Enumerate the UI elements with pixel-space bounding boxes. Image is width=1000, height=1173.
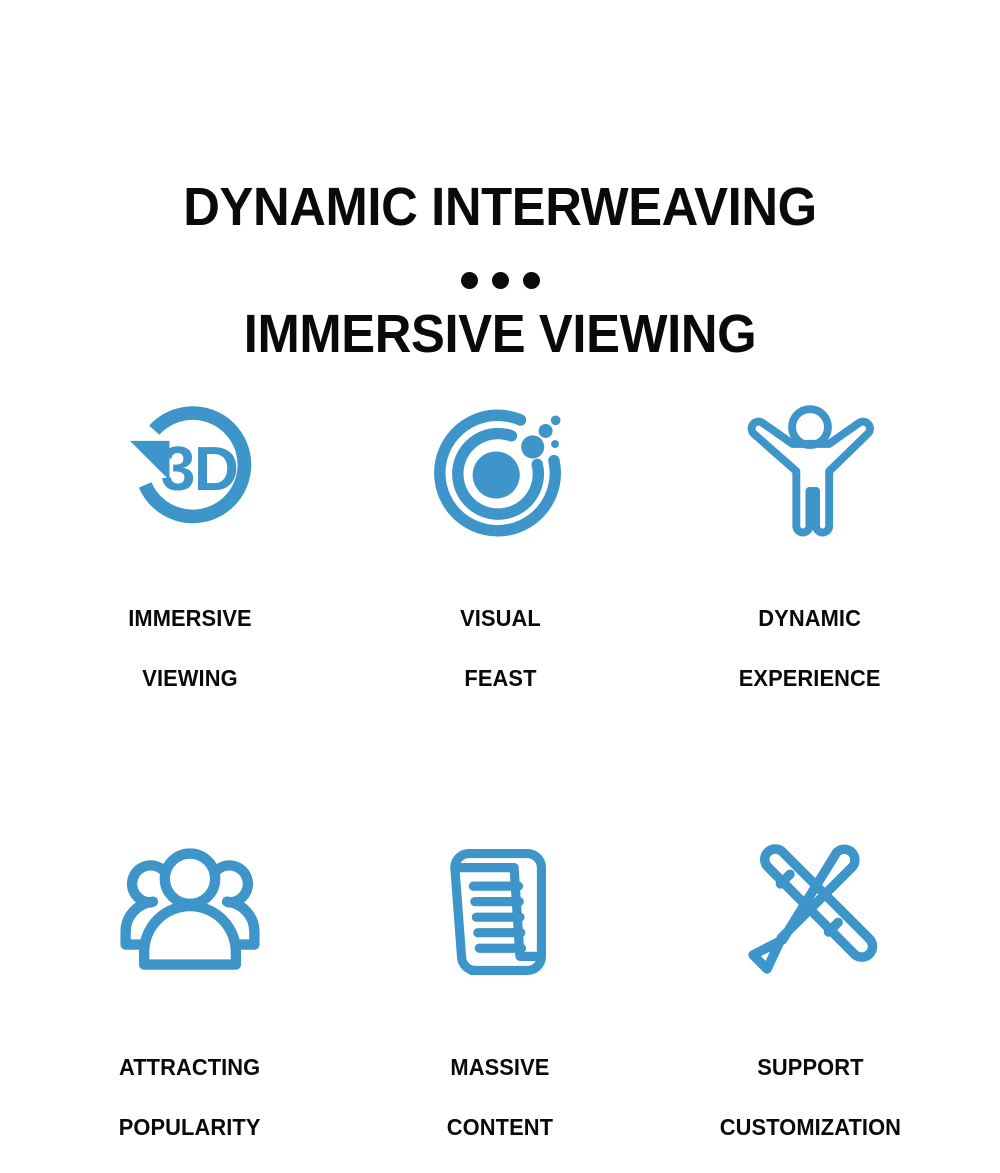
feature-label-line-2: POPULARITY bbox=[119, 1113, 261, 1143]
person-arms-raised-icon bbox=[730, 392, 890, 552]
divider-dot bbox=[461, 272, 478, 289]
feature-label: SUPPORT CUSTOMIZATION bbox=[719, 1023, 900, 1172]
feature-label-line-2: CONTENT bbox=[447, 1113, 553, 1143]
divider-dot bbox=[523, 272, 540, 289]
feature-label-line-2: CUSTOMIZATION bbox=[719, 1113, 900, 1143]
3d-rotate-icon: 3D bbox=[110, 392, 270, 552]
page-title-line-1: DYNAMIC INTERWEAVING bbox=[30, 176, 970, 240]
feature-label: MASSIVE CONTENT bbox=[447, 1023, 553, 1172]
scroll-document-icon bbox=[420, 837, 580, 987]
feature-label-line-1: ATTRACTING bbox=[119, 1053, 261, 1083]
page-title-line-2: IMMERSIVE VIEWING bbox=[30, 303, 970, 367]
poster-page: DYNAMIC INTERWEAVING IMMERSIVE VIEWING 3… bbox=[0, 0, 1000, 1128]
svg-text:3D: 3D bbox=[161, 435, 238, 504]
feature-item-attracting-popularity[interactable]: ATTRACTING POPULARITY bbox=[35, 837, 345, 1172]
pencil-ruler-cross-icon bbox=[730, 837, 890, 987]
feature-label: VISUAL FEAST bbox=[460, 574, 541, 723]
feature-label-line-1: IMMERSIVE bbox=[128, 604, 251, 634]
feature-label-line-1: SUPPORT bbox=[719, 1053, 900, 1083]
feature-item-dynamic-experience[interactable]: DYNAMIC EXPERIENCE bbox=[655, 392, 965, 723]
feature-label-line-2: EXPERIENCE bbox=[739, 664, 881, 694]
feature-item-immersive-viewing[interactable]: 3D IMMERSIVE VIEWING bbox=[35, 392, 345, 723]
dots-divider bbox=[0, 272, 1000, 289]
feature-label: DYNAMIC EXPERIENCE bbox=[739, 574, 881, 723]
feature-label-line-2: VIEWING bbox=[128, 664, 251, 694]
group-people-icon bbox=[110, 837, 270, 987]
feature-label-line-1: MASSIVE bbox=[447, 1053, 553, 1083]
feature-label-line-1: VISUAL bbox=[460, 604, 541, 634]
feature-label: IMMERSIVE VIEWING bbox=[128, 574, 251, 723]
feature-label-line-1: DYNAMIC bbox=[739, 604, 881, 634]
orbit-rings-icon bbox=[420, 392, 580, 552]
divider-dot bbox=[492, 272, 509, 289]
feature-item-support-customization[interactable]: SUPPORT CUSTOMIZATION bbox=[655, 837, 965, 1172]
feature-label-line-2: FEAST bbox=[460, 664, 541, 694]
feature-item-visual-feast[interactable]: VISUAL FEAST bbox=[345, 392, 655, 723]
feature-grid: 3D IMMERSIVE VIEWING bbox=[35, 392, 965, 1173]
feature-item-massive-content[interactable]: MASSIVE CONTENT bbox=[345, 837, 655, 1172]
feature-label: ATTRACTING POPULARITY bbox=[119, 1023, 261, 1172]
